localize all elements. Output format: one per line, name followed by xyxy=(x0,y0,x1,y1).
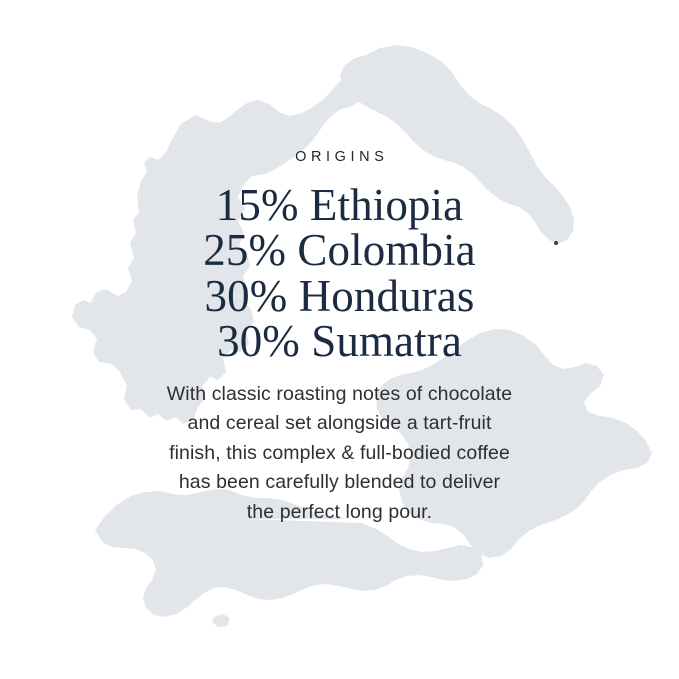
description-line: has been carefully blended to deliver xyxy=(120,468,560,498)
content-block: ORIGINS 15% Ethiopia 25% Colombia 30% Ho… xyxy=(0,0,679,679)
description-line: With classic roasting notes of chocolate xyxy=(120,380,560,410)
origins-list: 15% Ethiopia 25% Colombia 30% Honduras 3… xyxy=(203,183,475,365)
origin-line-colombia: 25% Colombia xyxy=(203,228,475,274)
description-line: the perfect long pour. xyxy=(120,498,560,528)
description-line: and cereal set alongside a tart-fruit xyxy=(120,409,560,439)
description-paragraph: With classic roasting notes of chocolate… xyxy=(120,380,560,528)
origins-card: ORIGINS 15% Ethiopia 25% Colombia 30% Ho… xyxy=(0,0,679,679)
eyebrow-label: ORIGINS xyxy=(290,150,388,165)
origin-line-ethiopia: 15% Ethiopia xyxy=(203,183,475,229)
description-line: finish, this complex & full-bodied coffe… xyxy=(120,439,560,469)
origin-line-honduras: 30% Honduras xyxy=(203,274,475,320)
origin-line-sumatra: 30% Sumatra xyxy=(203,319,475,365)
